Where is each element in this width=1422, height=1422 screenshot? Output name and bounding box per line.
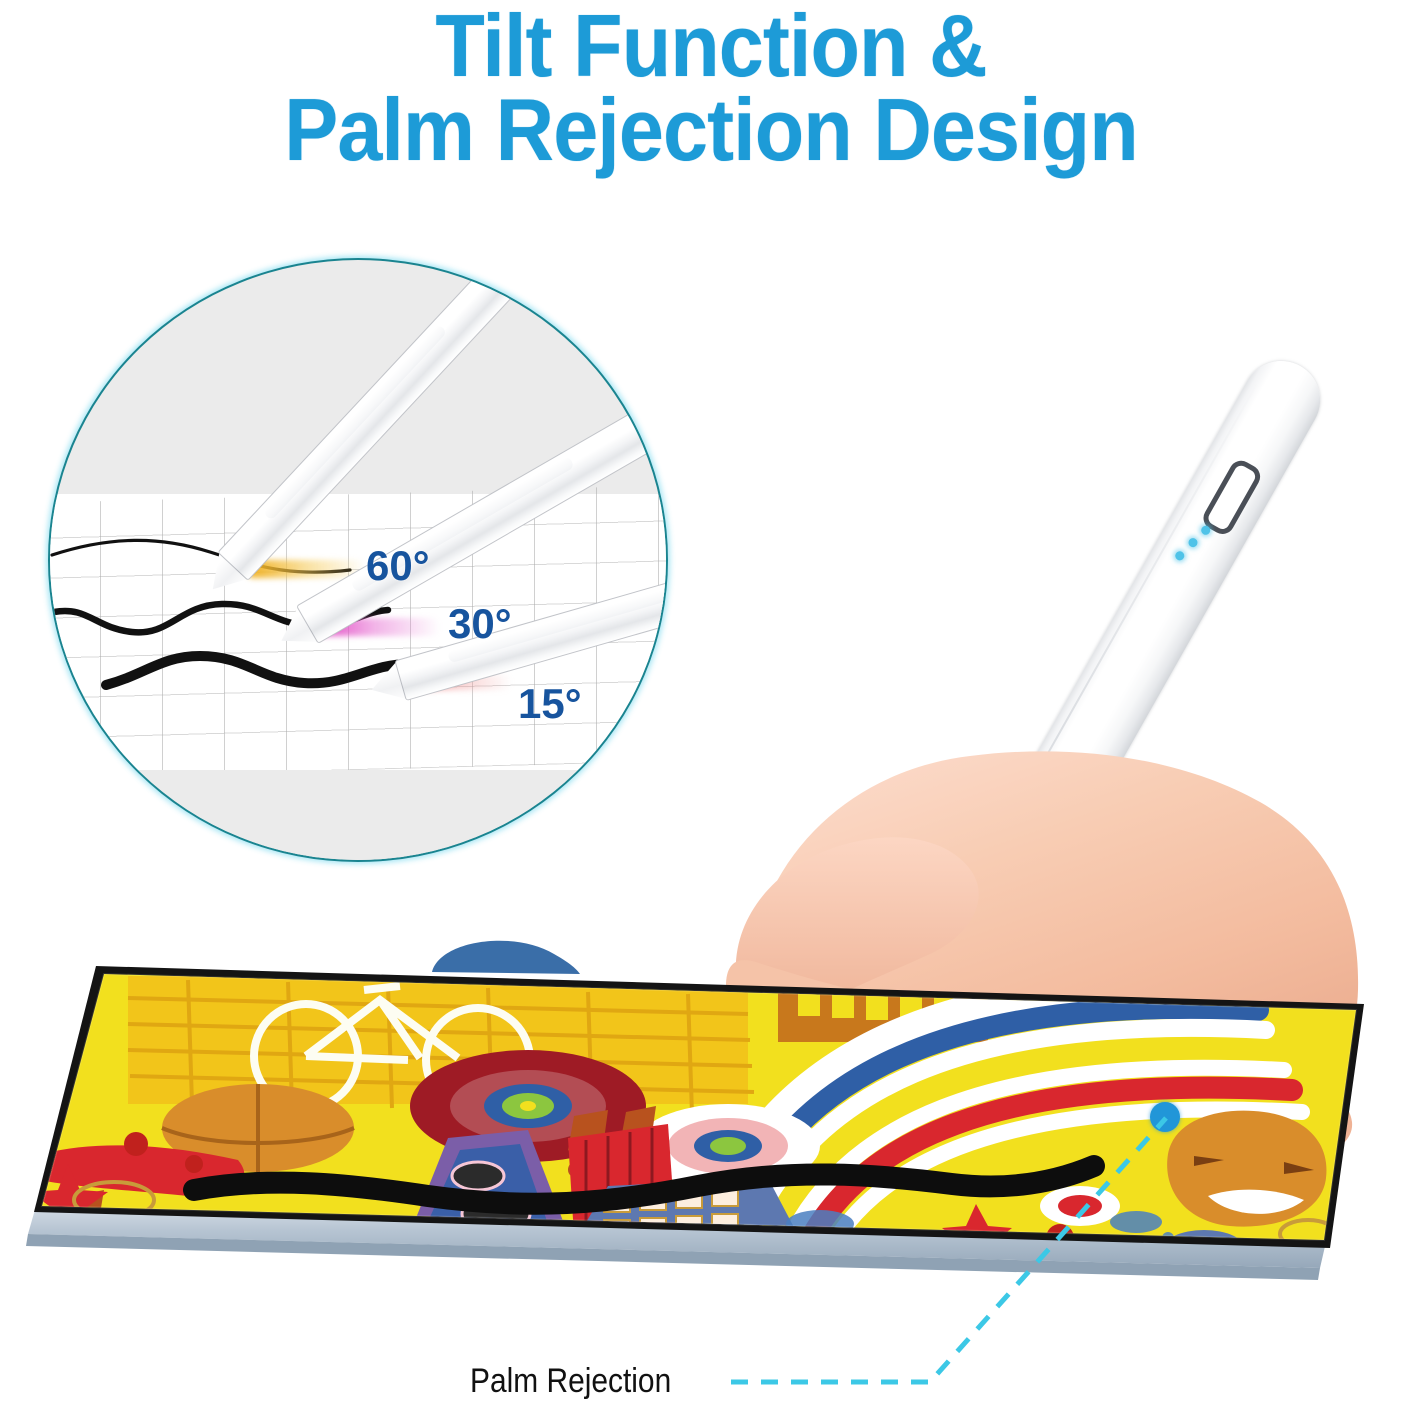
artwork-character — [1167, 1111, 1326, 1227]
angle-label-60: 60° — [366, 542, 430, 590]
angle-label-15: 15° — [518, 680, 582, 728]
title-line-2: Palm Rejection Design — [57, 88, 1365, 172]
palm-touch-point — [1150, 1102, 1180, 1132]
tilt-diagram-inset: 60° 30° 15° — [48, 258, 668, 862]
screen-dome-graphic — [432, 941, 580, 974]
page-title: Tilt Function & Palm Rejection Design — [0, 4, 1422, 173]
angle-label-30: 30° — [448, 600, 512, 648]
stroke-thick — [106, 656, 410, 685]
title-line-1: Tilt Function & — [57, 4, 1365, 88]
tablet-device[interactable] — [8, 938, 1398, 1318]
palm-rejection-caption: Palm Rejection — [470, 1362, 671, 1401]
product-feature-image: Tilt Function & Palm Rejection Design — [0, 0, 1422, 1422]
